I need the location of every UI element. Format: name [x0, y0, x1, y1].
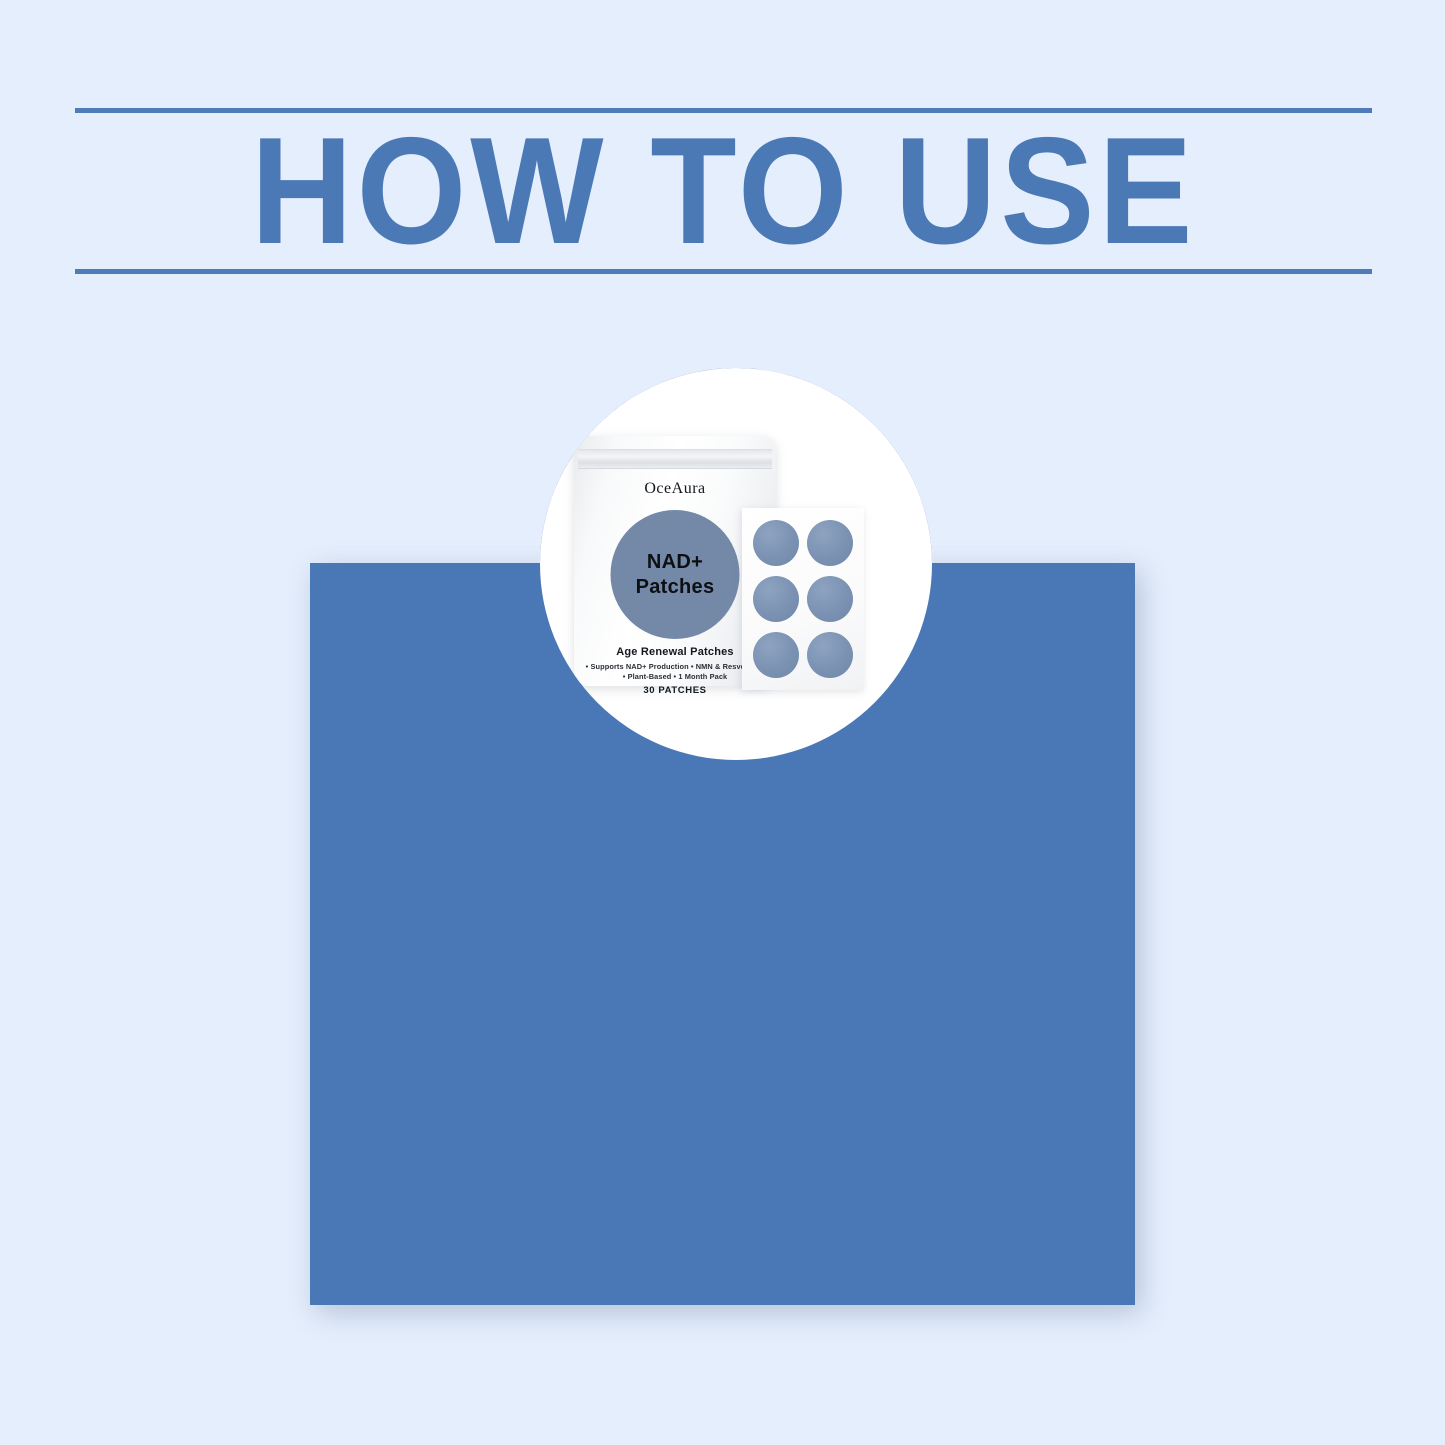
- patch-dot: [753, 520, 799, 566]
- header-rule-bottom: [75, 269, 1372, 274]
- pouch-brand-name: OceAura: [574, 480, 776, 498]
- patch-dot: [807, 520, 853, 566]
- pouch-label-line-1: NAD+: [647, 550, 703, 574]
- patch-dot: [807, 576, 853, 622]
- page-title: HOW TO USE: [120, 115, 1326, 267]
- pouch-label-badge: NAD+ Patches: [611, 510, 740, 639]
- patch-dot: [753, 576, 799, 622]
- pouch-label-line-2: Patches: [636, 575, 715, 599]
- header-block: HOW TO USE: [75, 108, 1372, 274]
- patch-sheet: [742, 508, 864, 690]
- patch-dot: [753, 632, 799, 678]
- pouch-zip-seal: [578, 449, 772, 469]
- patch-dot: [807, 632, 853, 678]
- product-image-circle: OceAura NAD+ Patches Age Renewal Patches…: [540, 368, 932, 760]
